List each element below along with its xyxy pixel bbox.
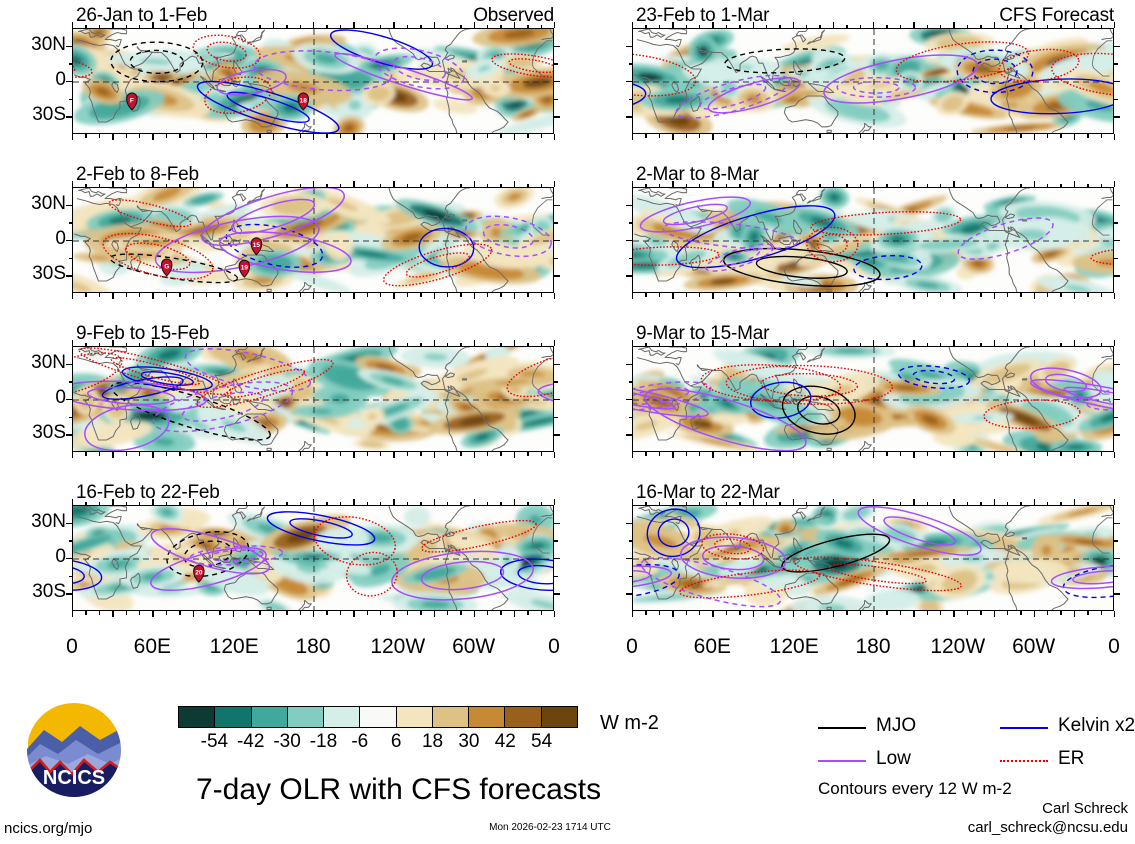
- y-tick-30S-obs-3: 30S: [4, 422, 66, 444]
- x-tick-mark: [434, 181, 435, 187]
- x-tick-mark: [739, 502, 740, 506]
- x-tick-mark: [500, 452, 501, 456]
- x-tick-mark: [1020, 502, 1021, 506]
- x-tick-mark: [886, 293, 887, 297]
- x-tick-mark: [407, 25, 408, 29]
- x-tick-mark: [739, 134, 740, 138]
- x-tick-mark: [927, 25, 928, 29]
- x-tick-mark: [819, 611, 820, 615]
- y-tick-mark: [1114, 540, 1118, 541]
- x-tick-mark: [1087, 25, 1088, 29]
- x-tick-mark: [300, 293, 301, 297]
- x-tick-mark: [420, 502, 421, 506]
- x-tick-mark: [514, 452, 515, 458]
- x-tick-mark: [994, 293, 995, 299]
- x-tick-mark: [246, 611, 247, 615]
- x-tick-mark: [233, 181, 234, 187]
- x-tick-mark: [846, 452, 847, 456]
- x-tick-mark: [286, 502, 287, 506]
- y-tick-mark: [554, 364, 560, 365]
- y-tick-mark: [626, 275, 632, 276]
- x-tick-mark: [460, 293, 461, 297]
- map-panel-fcst-3[interactable]: [632, 346, 1114, 452]
- y-tick-mark: [69, 417, 73, 418]
- colorbar-bin-2: [251, 707, 287, 727]
- x-tick-mark: [659, 343, 660, 347]
- x-tick-mark: [806, 611, 807, 615]
- x-tick-mark: [846, 293, 847, 297]
- x-tick-mark: [712, 293, 713, 299]
- x-tick-mark: [380, 184, 381, 188]
- map-panel-obs-3[interactable]: [72, 346, 554, 452]
- x-tick-mark: [793, 452, 794, 458]
- x-tick-mark: [85, 293, 86, 297]
- x-tick-mark: [1034, 611, 1035, 617]
- y-tick-30N-obs-4: 30N: [4, 511, 66, 533]
- x-tick-mark: [686, 502, 687, 506]
- x-tick-mark: [659, 502, 660, 506]
- x-tick-mark: [72, 134, 73, 140]
- y-tick-mark: [629, 99, 633, 100]
- colorbar-tick-3: -18: [303, 731, 343, 753]
- y-tick-mark: [69, 381, 73, 382]
- x-tick-mark: [233, 134, 234, 140]
- x-tick-mark: [886, 502, 887, 506]
- x-tick-mark: [434, 452, 435, 458]
- x-tick-mark: [447, 452, 448, 456]
- x-tick-mark: [126, 25, 127, 29]
- x-tick-mark: [1101, 25, 1102, 29]
- x-tick-mark: [980, 502, 981, 506]
- x-tick-mark: [380, 134, 381, 138]
- x-tick-mark: [927, 184, 928, 188]
- x-tick-mark: [659, 134, 660, 138]
- x-tick-mark: [994, 134, 995, 140]
- x-tick-mark: [393, 181, 394, 187]
- colorbar-bin-3: [287, 707, 323, 727]
- x-tick-mark: [833, 134, 834, 140]
- x-tick-mark: [1074, 452, 1075, 458]
- x-tick-mark: [873, 611, 874, 617]
- x-tick-mark: [514, 134, 515, 140]
- y-tick-mark: [629, 417, 633, 418]
- x-tick-mark: [1087, 184, 1088, 188]
- colorbar-bin-4: [323, 707, 359, 727]
- x-tick-mark: [953, 452, 954, 458]
- x-tick-mark: [474, 134, 475, 140]
- x-tick-mark: [672, 611, 673, 617]
- x-tick-mark: [246, 452, 247, 456]
- x-tick-mark: [1060, 25, 1061, 29]
- x-tick-mark: [166, 25, 167, 29]
- y-tick-mark: [66, 523, 72, 524]
- x-tick-mark: [179, 293, 180, 297]
- x-tick-mark: [779, 184, 780, 188]
- y-tick-30N-obs-1: 30N: [4, 34, 66, 56]
- x-tick-mark: [139, 611, 140, 615]
- site-url[interactable]: ncics.org/mjo: [4, 820, 92, 837]
- x-tick-mark: [753, 134, 754, 140]
- map-panel-fcst-1[interactable]: [632, 28, 1114, 134]
- x-tick-mark: [806, 134, 807, 138]
- x-tick-mark: [420, 452, 421, 456]
- x-tick-mark: [313, 452, 314, 458]
- x-tick-mark: [1007, 502, 1008, 506]
- x-tick-mark: [1114, 181, 1115, 187]
- x-tick-mark: [99, 611, 100, 615]
- x-tick-mark: [873, 181, 874, 187]
- y-tick-mark: [554, 46, 560, 47]
- x-tick-mark: [1034, 340, 1035, 346]
- x-tick-mark: [447, 184, 448, 188]
- y-tick-mark: [1114, 381, 1118, 382]
- x-tick-mark: [739, 452, 740, 456]
- x-tick-mark: [152, 22, 153, 28]
- y-tick-mark: [1114, 523, 1120, 524]
- x-tick-mark: [953, 22, 954, 28]
- x-tick-mark: [1101, 502, 1102, 506]
- x-tick-mark: [193, 452, 194, 458]
- x-tick-mark: [833, 452, 834, 458]
- y-tick-mark: [554, 434, 560, 435]
- x-tick-mark: [833, 340, 834, 346]
- x-tick-mark: [953, 611, 954, 617]
- y-tick-mark: [69, 258, 73, 259]
- x-tick-mark: [541, 25, 542, 29]
- x-tick-mark: [152, 340, 153, 346]
- x-tick-mark: [206, 452, 207, 456]
- x-tick-mark: [460, 452, 461, 456]
- x-tick-mark: [953, 181, 954, 187]
- x-tick-mark: [527, 184, 528, 188]
- x-tick-mark: [699, 134, 700, 138]
- x-tick-mark: [1034, 22, 1035, 28]
- x-tick-mark: [152, 181, 153, 187]
- x-tick-mark: [913, 499, 914, 505]
- x-tick-mark: [326, 611, 327, 615]
- x-tick-mark: [766, 134, 767, 138]
- x-tick-mark: [447, 293, 448, 297]
- x-tick-mark: [447, 134, 448, 138]
- x-tick-mark: [726, 134, 727, 138]
- x-tick-mark: [500, 134, 501, 138]
- x-tick-mark: [353, 340, 354, 346]
- x-tick-mark: [420, 134, 421, 138]
- x-tick-mark: [779, 343, 780, 347]
- x-tick-mark: [353, 452, 354, 458]
- x-tick-mark: [1101, 343, 1102, 347]
- x-tick-mark: [326, 134, 327, 138]
- map-panel-fcst-2[interactable]: [632, 187, 1114, 293]
- x-tick-mark: [246, 293, 247, 297]
- y-tick-mark: [626, 116, 632, 117]
- x-tick-mark: [259, 502, 260, 506]
- colorbar-bin-9: [504, 707, 540, 727]
- x-tick-mark: [994, 22, 995, 28]
- x-tick-mark: [460, 184, 461, 188]
- colorbar-tick-2: -30: [267, 731, 307, 753]
- x-tick-mark: [286, 452, 287, 456]
- colorbar-tick-6: 18: [413, 731, 453, 753]
- x-tick-mark: [179, 134, 180, 138]
- x-tick-mark: [1060, 134, 1061, 138]
- x-tick-mark: [99, 502, 100, 506]
- x-tick-mark: [353, 293, 354, 299]
- x-tick-mark: [152, 452, 153, 458]
- colorbar-tick-0: -54: [194, 731, 234, 753]
- x-tick-mark: [246, 343, 247, 347]
- map-panel-obs-2[interactable]: 15G19: [72, 187, 554, 293]
- x-tick-mark: [99, 293, 100, 297]
- x-tick-mark: [927, 611, 928, 615]
- x-tick-mark: [632, 293, 633, 299]
- x-tick-mark: [434, 499, 435, 505]
- x-tick-mark: [434, 134, 435, 140]
- x-tick-mark: [193, 293, 194, 299]
- x-tick-mark: [766, 25, 767, 29]
- x-tick-mark: [980, 293, 981, 297]
- y-tick-mark: [626, 523, 632, 524]
- x-tick-mark: [206, 25, 207, 29]
- x-tick-mark: [233, 293, 234, 299]
- panel-title-obs-3: 9-Feb to 15-Feb: [76, 323, 209, 345]
- y-tick-mark: [554, 222, 558, 223]
- x-tick-mark: [126, 502, 127, 506]
- x-tick-mark: [139, 25, 140, 29]
- x-tick-mark: [645, 134, 646, 138]
- x-tick-mark: [340, 343, 341, 347]
- x-tick-mark: [85, 611, 86, 615]
- x-tick-mark: [1074, 499, 1075, 505]
- x-tick-mark: [554, 293, 555, 299]
- x-tick-mark: [393, 22, 394, 28]
- x-tick-mark: [1114, 611, 1115, 617]
- x-tick-mark: [819, 452, 820, 456]
- x-tick-mark: [886, 452, 887, 456]
- x-tick-mark: [434, 22, 435, 28]
- colorbar-bin-8: [468, 707, 504, 727]
- x-tick-mark: [1034, 181, 1035, 187]
- legend-swatch-kelvin-x2: [1000, 727, 1048, 729]
- x-tick-mark: [487, 502, 488, 506]
- x-tick-mark: [900, 343, 901, 347]
- y-tick-mark: [554, 258, 558, 259]
- x-tick-mark: [686, 343, 687, 347]
- x-tick-mark: [1060, 611, 1061, 615]
- y-tick-mark: [629, 576, 633, 577]
- x-tick-mark: [300, 25, 301, 29]
- x-tick-mark: [980, 343, 981, 347]
- x-tick-mark: [1007, 25, 1008, 29]
- x-tick-mark: [927, 343, 928, 347]
- x-tick-mark: [686, 611, 687, 615]
- x-tick-mark: [632, 611, 633, 617]
- x-tick-mark: [500, 611, 501, 615]
- y-tick-mark: [554, 540, 558, 541]
- y-tick-30S-obs-1: 30S: [4, 104, 66, 126]
- colorbar-tick-4: -6: [340, 731, 380, 753]
- x-tick-mark: [474, 499, 475, 505]
- x-tick-mark: [72, 22, 73, 28]
- colorbar-bin-5: [359, 707, 395, 727]
- x-tick-mark: [1101, 134, 1102, 138]
- x-tick-mark: [99, 343, 100, 347]
- x-tick-mark: [541, 452, 542, 456]
- x-tick-mark: [166, 343, 167, 347]
- x-tick-mark: [860, 502, 861, 506]
- map-panel-obs-1[interactable]: F18: [72, 28, 554, 134]
- x-tick-mark: [219, 134, 220, 138]
- x-tick-mark: [85, 502, 86, 506]
- y-tick-mark: [1114, 417, 1118, 418]
- x-tick-mark: [753, 293, 754, 299]
- y-tick-30N-obs-2: 30N: [4, 193, 66, 215]
- y-tick-mark: [626, 205, 632, 206]
- panel-title-fcst-3: 9-Mar to 15-Mar: [636, 323, 769, 345]
- y-tick-mark: [1114, 593, 1120, 594]
- x-tick-mark: [1020, 611, 1021, 615]
- x-tick-mark: [833, 293, 834, 299]
- x-tick-mark: [233, 611, 234, 617]
- y-tick-mark: [1114, 222, 1118, 223]
- colorbar-tick-5: 6: [376, 731, 416, 753]
- x-tick-mark: [447, 343, 448, 347]
- storm-marker-label: 19: [241, 265, 249, 272]
- x-tick-mark: [1047, 611, 1048, 615]
- x-tick-mark: [1020, 343, 1021, 347]
- x-tick-mark: [460, 611, 461, 615]
- x-tick-mark: [913, 134, 914, 140]
- x-tick-mark: [219, 293, 220, 297]
- x-tick-mark: [139, 343, 140, 347]
- x-tick-mark: [793, 134, 794, 140]
- x-tick-mark: [1047, 25, 1048, 29]
- x-tick-mark: [487, 452, 488, 456]
- x-tick-mark: [474, 181, 475, 187]
- y-tick-mark: [626, 364, 632, 365]
- x-tick-mark: [900, 293, 901, 297]
- x-tick-mark: [793, 293, 794, 299]
- x-tick-mark: [527, 502, 528, 506]
- x-tick-mark: [753, 452, 754, 458]
- x-tick-mark: [1074, 293, 1075, 299]
- x-tick-mark: [206, 293, 207, 297]
- page-title: 7-day OLR with CFS forecasts: [196, 773, 601, 807]
- x-tick-mark: [367, 134, 368, 138]
- x-tick-mark: [659, 452, 660, 456]
- y-tick-mark: [66, 434, 72, 435]
- x-tick-mark: [99, 452, 100, 456]
- map-panel-fcst-4[interactable]: [632, 505, 1114, 611]
- x-tick-mark: [913, 611, 914, 617]
- x-tick-mark: [1020, 25, 1021, 29]
- x-tick-mark: [126, 134, 127, 138]
- y-tick-mark: [629, 63, 633, 64]
- x-tick-mark: [1034, 452, 1035, 458]
- x-tick-mark: [99, 134, 100, 138]
- y-tick-mark: [66, 364, 72, 365]
- y-tick-mark: [554, 593, 560, 594]
- x-tick-label-0-3: 180: [290, 635, 336, 659]
- x-tick-mark: [487, 611, 488, 615]
- x-tick-mark: [940, 184, 941, 188]
- x-tick-mark: [474, 340, 475, 346]
- x-tick-mark: [259, 184, 260, 188]
- x-tick-mark: [313, 293, 314, 299]
- x-tick-mark: [139, 293, 140, 297]
- x-tick-mark: [72, 611, 73, 617]
- x-tick-mark: [994, 181, 995, 187]
- x-tick-mark: [1007, 343, 1008, 347]
- x-tick-mark: [300, 452, 301, 456]
- x-tick-mark: [206, 134, 207, 138]
- x-tick-mark: [72, 181, 73, 187]
- x-tick-mark: [313, 22, 314, 28]
- x-tick-mark: [886, 184, 887, 188]
- x-tick-mark: [793, 22, 794, 28]
- x-tick-mark: [246, 25, 247, 29]
- x-tick-mark: [1114, 452, 1115, 458]
- x-tick-mark: [233, 499, 234, 505]
- x-tick-mark: [85, 134, 86, 138]
- x-tick-mark: [313, 499, 314, 505]
- x-tick-mark: [699, 25, 700, 29]
- x-tick-mark: [313, 134, 314, 140]
- x-tick-mark: [407, 611, 408, 615]
- x-tick-mark: [699, 343, 700, 347]
- x-tick-mark: [554, 181, 555, 187]
- x-tick-mark: [672, 452, 673, 458]
- y-tick-mark: [1114, 275, 1120, 276]
- x-tick-mark: [541, 293, 542, 297]
- x-tick-mark: [460, 502, 461, 506]
- x-tick-mark: [300, 184, 301, 188]
- x-tick-mark: [927, 452, 928, 456]
- x-tick-mark: [126, 184, 127, 188]
- x-tick-mark: [900, 502, 901, 506]
- x-tick-mark: [1007, 611, 1008, 615]
- x-tick-mark: [846, 343, 847, 347]
- x-tick-mark: [554, 611, 555, 617]
- x-tick-mark: [793, 340, 794, 346]
- x-tick-mark: [326, 502, 327, 506]
- x-tick-mark: [686, 25, 687, 29]
- x-tick-mark: [632, 452, 633, 458]
- x-tick-mark: [980, 25, 981, 29]
- x-tick-mark: [833, 181, 834, 187]
- x-tick-mark: [659, 293, 660, 297]
- x-tick-mark: [686, 184, 687, 188]
- x-tick-mark: [434, 340, 435, 346]
- x-tick-mark: [487, 184, 488, 188]
- x-tick-mark: [193, 22, 194, 28]
- x-tick-mark: [886, 134, 887, 138]
- x-tick-mark: [259, 25, 260, 29]
- x-tick-mark: [300, 502, 301, 506]
- legend-swatch-er: [1000, 760, 1048, 762]
- y-tick-mark: [554, 399, 560, 400]
- x-tick-mark: [313, 181, 314, 187]
- x-tick-mark: [72, 452, 73, 458]
- generated-timestamp: Mon 2026-02-23 1714 UTC: [420, 822, 680, 833]
- x-tick-mark: [246, 502, 247, 506]
- x-tick-mark: [487, 25, 488, 29]
- x-tick-mark: [474, 452, 475, 458]
- colorbar-tick-1: -42: [231, 731, 271, 753]
- x-tick-mark: [900, 452, 901, 456]
- map-panel-obs-4[interactable]: 20: [72, 505, 554, 611]
- y-tick-mark: [554, 99, 558, 100]
